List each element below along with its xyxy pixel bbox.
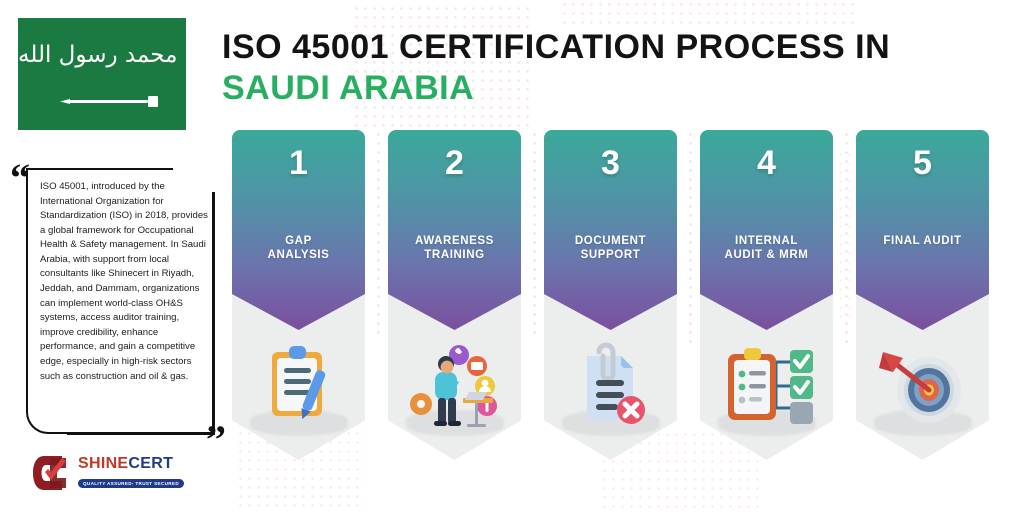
step-illustration <box>856 338 989 450</box>
certification-process-steps: 1 GAPANALYSIS 2 AWARENESSTRAININ <box>0 0 1024 512</box>
step-label: DOCUMENTSUPPORT <box>550 234 671 263</box>
step-label: AWARENESSTRAINING <box>394 234 515 263</box>
step-number: 3 <box>544 146 677 180</box>
step-card[interactable]: 2 AWARENESSTRAINING <box>388 130 521 330</box>
step-illustration <box>232 338 365 450</box>
step-illustration <box>388 338 521 450</box>
step-illustration <box>700 338 833 450</box>
step-label: GAPANALYSIS <box>238 234 359 263</box>
step-number: 5 <box>856 146 989 180</box>
step-label: INTERNALAUDIT & MRM <box>706 234 827 263</box>
target-dart-icon <box>877 342 969 430</box>
checklist-icon <box>718 342 816 430</box>
step-label: FINAL AUDIT <box>862 234 983 248</box>
step-number: 1 <box>232 146 365 180</box>
clipboard-pen-icon <box>260 342 338 428</box>
step-card[interactable]: 4 INTERNALAUDIT & MRM <box>700 130 833 330</box>
step-illustration <box>544 338 677 450</box>
person-training-icon <box>407 342 503 430</box>
document-clip-icon <box>571 342 651 428</box>
step-number: 4 <box>700 146 833 180</box>
step-card[interactable]: 5 FINAL AUDIT <box>856 130 989 330</box>
step-card[interactable]: 1 GAPANALYSIS <box>232 130 365 330</box>
step-card[interactable]: 3 DOCUMENTSUPPORT <box>544 130 677 330</box>
step-number: 2 <box>388 146 521 180</box>
